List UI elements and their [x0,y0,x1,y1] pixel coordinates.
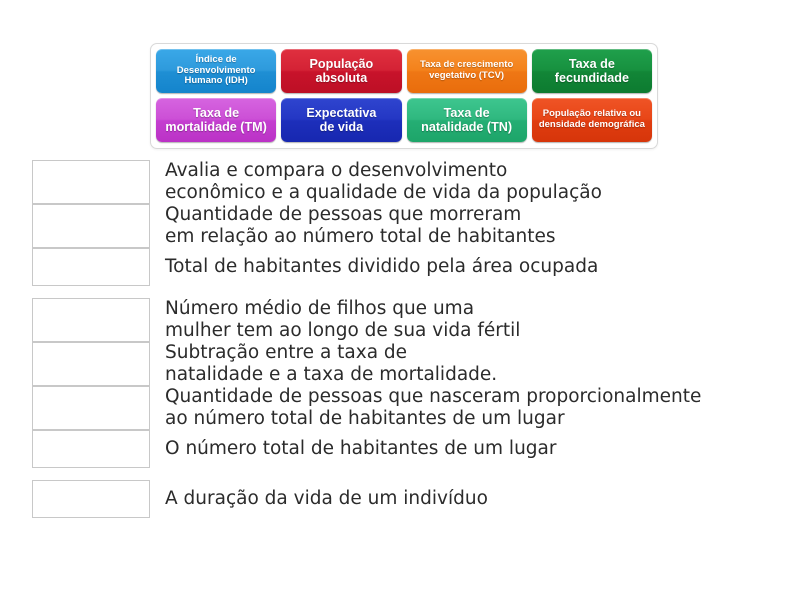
drop-target-7[interactable] [32,430,150,468]
tile-label: Taxa de mortalidade (TM) [159,106,273,134]
drop-target-5[interactable] [32,342,150,386]
answer-text: Quantidade de pessoas que morreram em re… [165,204,556,248]
answer-row: Quantidade de pessoas que nasceram propo… [32,386,784,430]
tile-label: População absoluta [284,57,398,85]
drop-target-3[interactable] [32,248,150,286]
tile-label: Índice de Desenvolvimento Humano (IDH) [159,55,273,87]
drop-target-6[interactable] [32,386,150,430]
answer-row: Avalia e compara o desenvolvimento econô… [32,160,784,204]
tile-label: Taxa de crescimento vegetativo (TCV) [410,60,524,81]
answer-row: Número médio de filhos que uma mulher te… [32,298,784,342]
answer-list: Avalia e compara o desenvolvimento econô… [32,160,784,530]
tile-label: População relativa ou densidade demográf… [535,109,649,130]
tile-label: Taxa de natalidade (TN) [410,106,524,134]
drop-target-2[interactable] [32,204,150,248]
answer-text: A duração da vida de um indivíduo [165,488,488,510]
answer-text: Quantidade de pessoas que nasceram propo… [165,386,701,430]
answer-row: O número total de habitantes de um lugar [32,430,784,468]
answer-row: Subtração entre a taxa de natalidade e a… [32,342,784,386]
tile-populacao-absoluta[interactable]: População absoluta [281,49,401,93]
tile-tcv[interactable]: Taxa de crescimento vegetativo (TCV) [407,49,527,93]
answer-row: Quantidade de pessoas que morreram em re… [32,204,784,248]
answer-text: Número médio de filhos que uma mulher te… [165,298,520,342]
tile-taxa-natalidade[interactable]: Taxa de natalidade (TN) [407,98,527,142]
answer-text: Total de habitantes dividido pela área o… [165,256,598,278]
tile-label: Taxa de fecundidade [535,57,649,85]
tile-densidade-demografica[interactable]: População relativa ou densidade demográf… [532,98,652,142]
answer-row: A duração da vida de um indivíduo [32,480,784,518]
tile-label: Expectativa de vida [284,106,398,134]
drop-target-8[interactable] [32,480,150,518]
answer-text: O número total de habitantes de um lugar [165,438,556,460]
tile-row-2: Taxa de mortalidade (TM) Expectativa de … [156,98,652,142]
tile-tray: Índice de Desenvolvimento Humano (IDH) P… [150,43,658,149]
answer-row: Total de habitantes dividido pela área o… [32,248,784,286]
answer-text: Subtração entre a taxa de natalidade e a… [165,342,497,386]
drop-target-1[interactable] [32,160,150,204]
tile-row-1: Índice de Desenvolvimento Humano (IDH) P… [156,49,652,93]
tile-taxa-fecundidade[interactable]: Taxa de fecundidade [532,49,652,93]
tile-expectativa-vida[interactable]: Expectativa de vida [281,98,401,142]
answer-text: Avalia e compara o desenvolvimento econô… [165,160,602,204]
tile-idh[interactable]: Índice de Desenvolvimento Humano (IDH) [156,49,276,93]
tile-taxa-mortalidade[interactable]: Taxa de mortalidade (TM) [156,98,276,142]
drop-target-4[interactable] [32,298,150,342]
